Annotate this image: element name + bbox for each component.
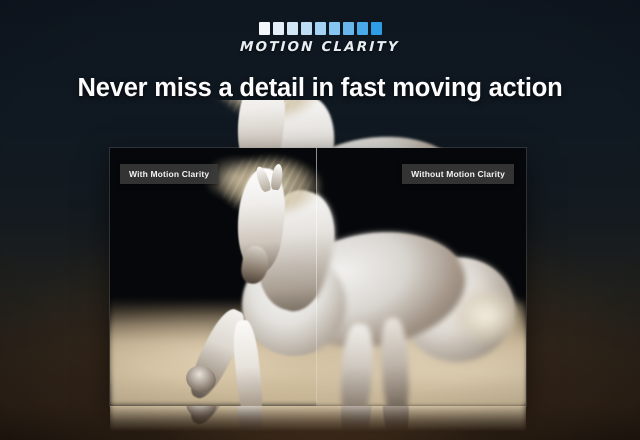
subject-overflow-bottom — [110, 406, 526, 432]
logo-square-8 — [357, 22, 368, 35]
logo-square-5 — [315, 22, 326, 35]
motion-clarity-logo: MOTION CLARITY — [0, 22, 640, 55]
split-divider — [316, 148, 317, 406]
subject-overflow-top — [110, 100, 526, 148]
logo-square-6 — [329, 22, 340, 35]
scene-blurred-half — [317, 148, 526, 406]
logo-squares-row — [259, 22, 382, 35]
logo-wordmark: MOTION CLARITY — [240, 39, 400, 55]
label-with-motion-clarity: With Motion Clarity — [120, 164, 218, 184]
page-title: Never miss a detail in fast moving actio… — [0, 74, 640, 103]
horse-photo: With Motion Clarity Without Motion Clari… — [110, 148, 526, 406]
logo-word-clarity: CLARITY — [321, 39, 400, 55]
comparison-panel: With Motion Clarity Without Motion Clari… — [110, 148, 526, 406]
logo-square-4 — [301, 22, 312, 35]
logo-word-motion: MOTION — [240, 39, 315, 55]
label-without-motion-clarity: Without Motion Clarity — [402, 164, 514, 184]
promo-banner: MOTION CLARITY Never miss a detail in fa… — [0, 0, 640, 440]
logo-square-1 — [259, 22, 270, 35]
logo-square-2 — [273, 22, 284, 35]
logo-square-3 — [287, 22, 298, 35]
logo-square-9 — [371, 22, 382, 35]
logo-square-7 — [343, 22, 354, 35]
